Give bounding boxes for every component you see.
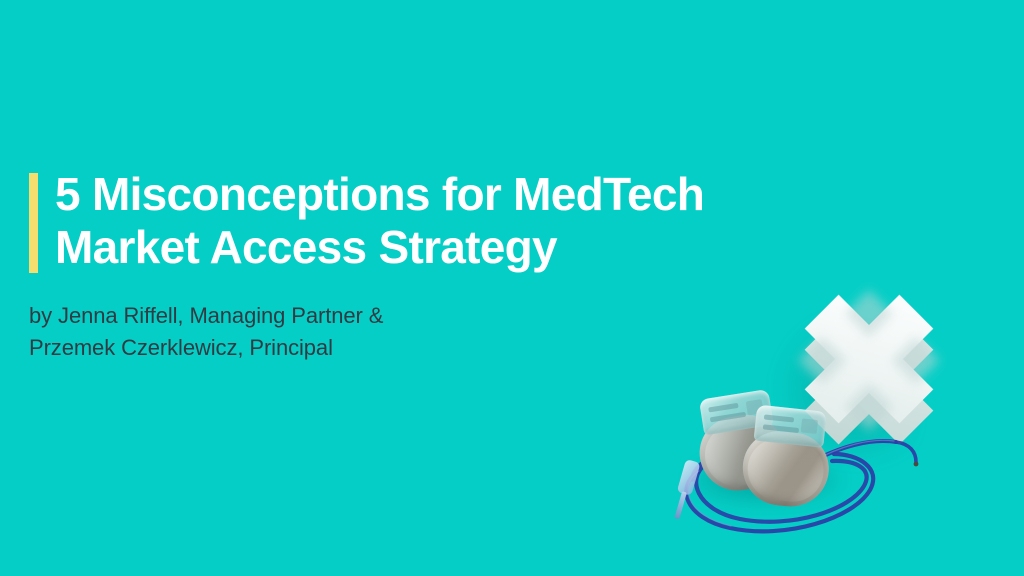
- connector-pin: [674, 491, 687, 519]
- header-port: [710, 412, 746, 423]
- header-port: [764, 414, 794, 422]
- accent-bar: [29, 173, 38, 273]
- pacemaker-device-front: [739, 404, 835, 510]
- pacemaker-device-group: [672, 382, 922, 522]
- hero-photo-inner: [660, 262, 1024, 576]
- device-header-block: [754, 405, 827, 448]
- header-port: [763, 424, 799, 433]
- connector-barrel: [677, 459, 701, 496]
- hero-photo: [660, 262, 1024, 576]
- header-port: [801, 418, 818, 434]
- page-title: 5 Misconceptions for MedTech Market Acce…: [55, 168, 849, 274]
- header-port: [708, 403, 738, 413]
- title-row: 5 Misconceptions for MedTech Market Acce…: [29, 168, 849, 274]
- lead-tip-electrode: [914, 462, 919, 467]
- title-slide: 5 Misconceptions for MedTech Market Acce…: [0, 0, 1024, 576]
